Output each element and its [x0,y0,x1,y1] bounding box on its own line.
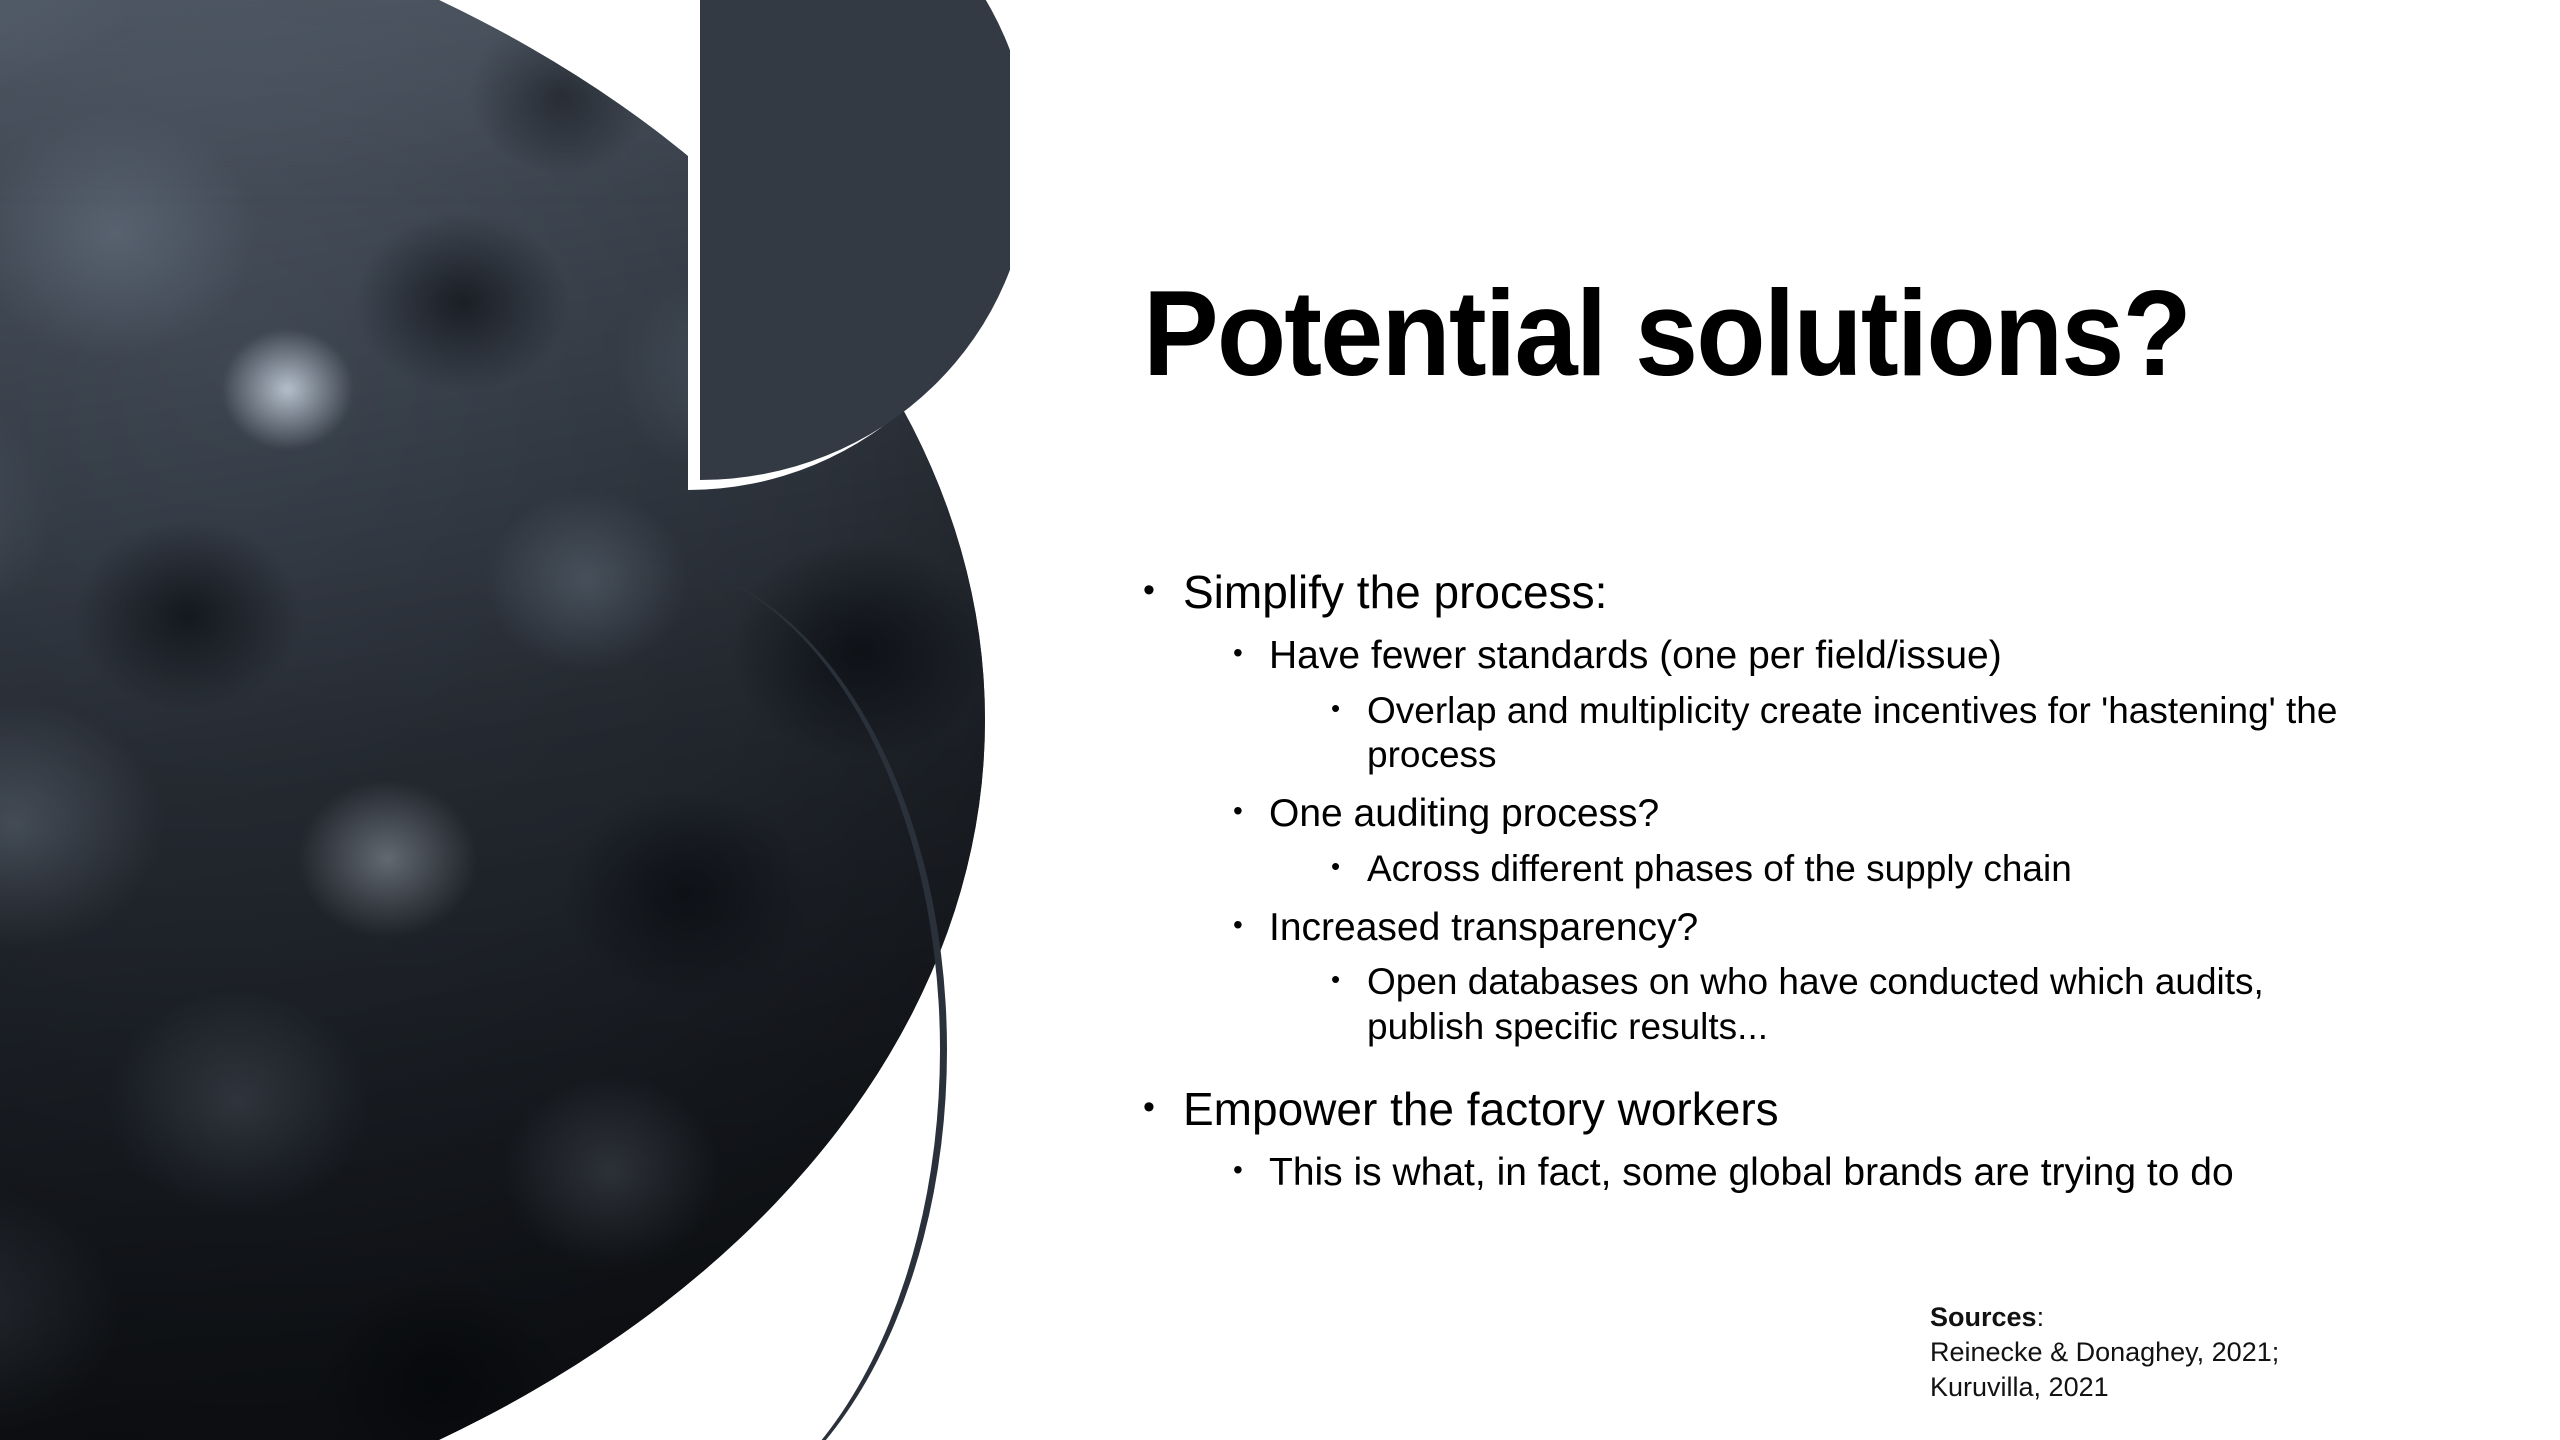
sources-label: Sources [1930,1302,2037,1332]
source-entry: Reinecke & Donaghey, 2021; [1930,1335,2279,1370]
sources-block: Sources: Reinecke & Donaghey, 2021; Kuru… [1930,1300,2279,1405]
sources-colon: : [2037,1302,2045,1332]
bullet-text: Have fewer standards (one per field/issu… [1269,633,2002,678]
slide-title: Potential solutions? [1143,272,2190,394]
bullet-item-level1: • Empower the factory workers [1143,1083,2443,1136]
bullet-item-level2: • Have fewer standards (one per field/is… [1233,633,2443,678]
bullet-marker-icon: • [1143,566,1183,614]
bullet-text: Open databases on who have conducted whi… [1367,960,2341,1049]
bullet-marker-icon: • [1233,791,1269,832]
bullet-marker-icon: • [1331,847,1367,886]
bullet-item-level1: • Simplify the process: [1143,566,2443,619]
bullet-text: One auditing process? [1269,791,1659,836]
presentation-slide: Potential solutions? • Simplify the proc… [0,0,2560,1440]
bullet-marker-icon: • [1143,1083,1183,1131]
bullet-text: Simplify the process: [1183,566,1607,619]
slide-content: Potential solutions? • Simplify the proc… [1143,0,2433,1440]
bullet-item-level2: • This is what, in fact, some global bra… [1233,1150,2443,1195]
slide-decorative-image [0,0,1010,1440]
bullet-item-level2: • Increased transparency? [1233,905,2443,950]
sources-heading: Sources: [1930,1300,2279,1335]
bullet-marker-icon: • [1331,960,1367,999]
bullet-text: Increased transparency? [1269,905,1698,950]
bullet-item-level2: • One auditing process? [1233,791,2443,836]
bullet-marker-icon: • [1233,1150,1269,1191]
bullet-marker-icon: • [1233,905,1269,946]
source-entry: Kuruvilla, 2021 [1930,1370,2279,1405]
bullet-text: This is what, in fact, some global brand… [1269,1150,2234,1195]
bullet-item-level3: • Across different phases of the supply … [1331,847,2341,891]
bullet-text: Empower the factory workers [1183,1083,1779,1136]
bullet-marker-icon: • [1233,633,1269,674]
bullet-text: Overlap and multiplicity create incentiv… [1367,689,2341,778]
bullet-text: Across different phases of the supply ch… [1367,847,2072,891]
bullet-item-level3: • Open databases on who have conducted w… [1331,960,2341,1049]
bullet-marker-icon: • [1331,689,1367,728]
bullet-item-level3: • Overlap and multiplicity create incent… [1331,689,2341,778]
bullet-list: • Simplify the process: • Have fewer sta… [1143,566,2443,1206]
